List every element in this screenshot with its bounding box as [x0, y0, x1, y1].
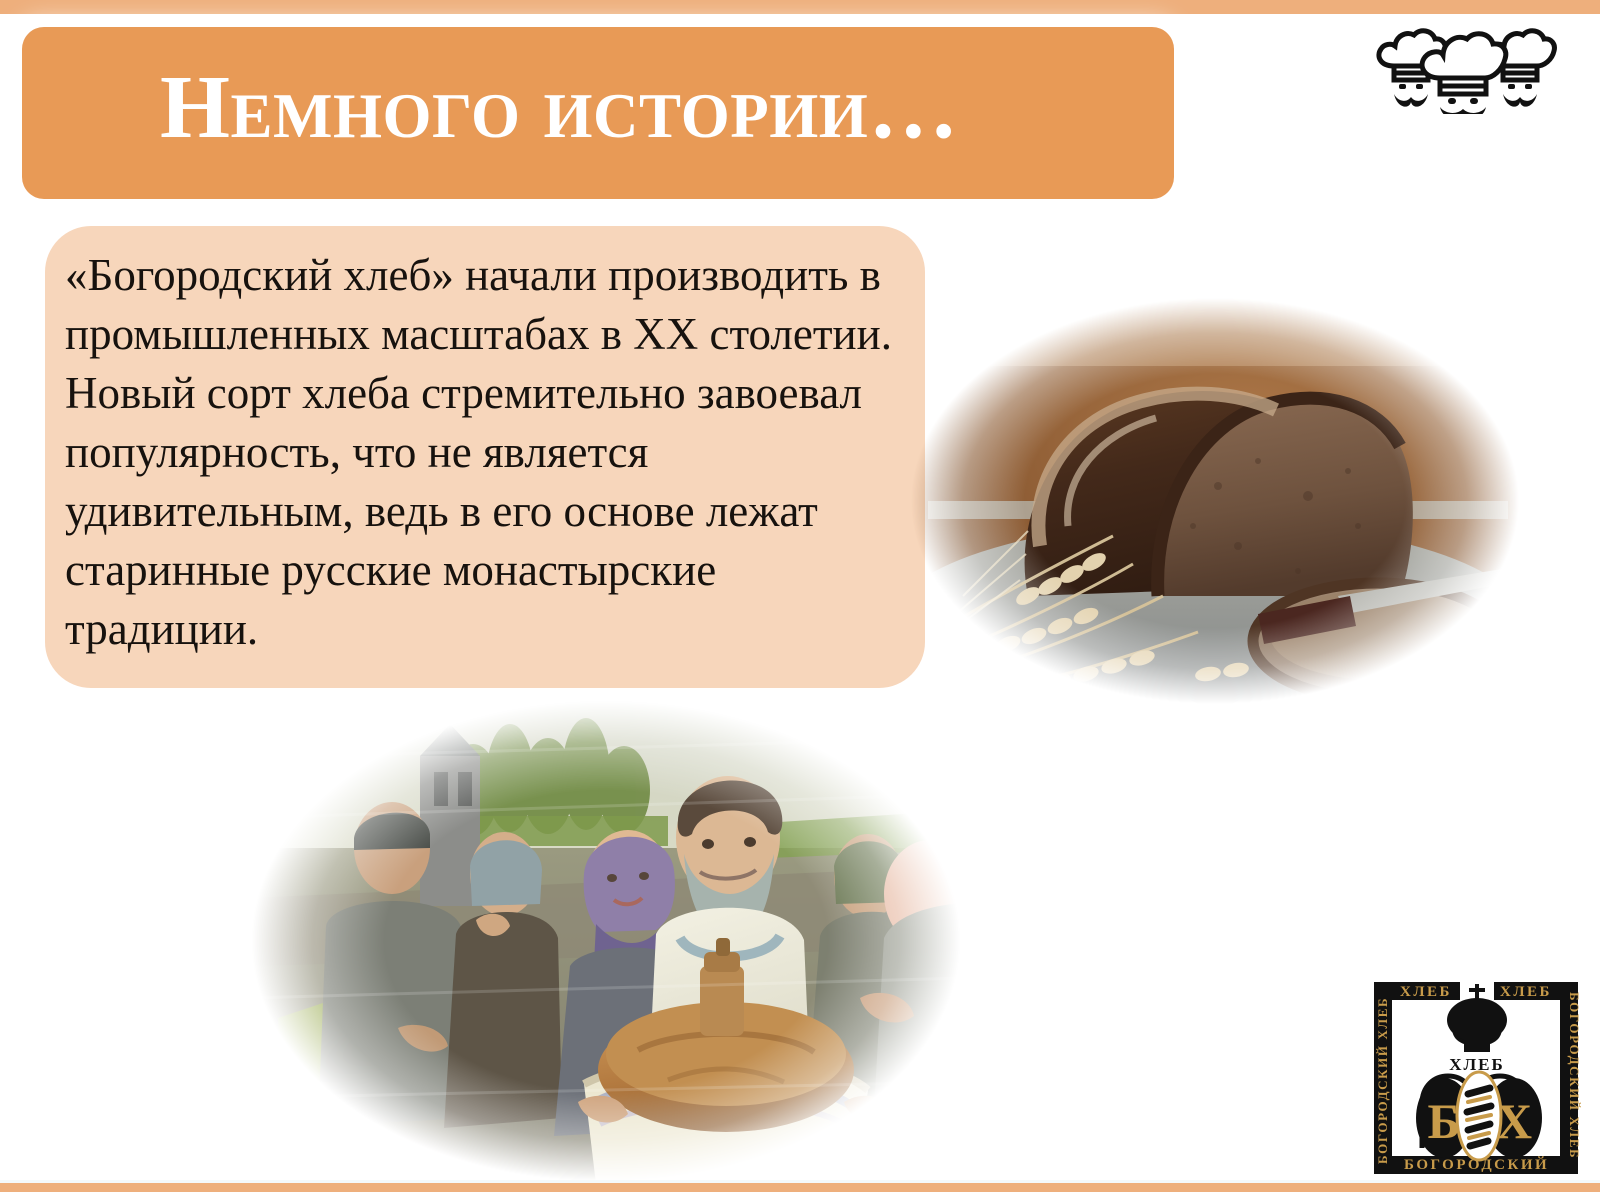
chef-hats-icon — [1372, 22, 1558, 114]
logo-border-top-left: ХЛЕБ — [1400, 984, 1452, 1000]
bottom-accent-strip — [0, 1183, 1600, 1192]
top-accent-strip — [0, 0, 1600, 14]
body-text-card: «Богородский хлеб» начали производить в … — [45, 226, 925, 688]
page-title: Немного истории… — [160, 58, 1120, 158]
logo-monogram-left: Б — [1427, 1093, 1460, 1149]
body-paragraph: «Богородский хлеб» начали производить в … — [65, 246, 911, 659]
slide-root: Немного истории… — [0, 0, 1600, 1200]
logo-border-right: БОГОРОДСКИЙ ХЛЕБ — [1567, 992, 1582, 1159]
rye-bread-photo — [908, 296, 1522, 706]
logo-border-top-right: ХЛЕБ — [1500, 984, 1552, 1000]
bread-and-salt-painting — [248, 698, 964, 1184]
logo-border-left: БОГОРОДСКИЙ ХЛЕБ — [1375, 997, 1390, 1164]
bogorodsky-hleb-logo: ХЛЕБ ХЛЕБ БОГОРОДСКИЙ БОГОРОДСКИЙ ХЛЕБ Б… — [1368, 958, 1584, 1180]
